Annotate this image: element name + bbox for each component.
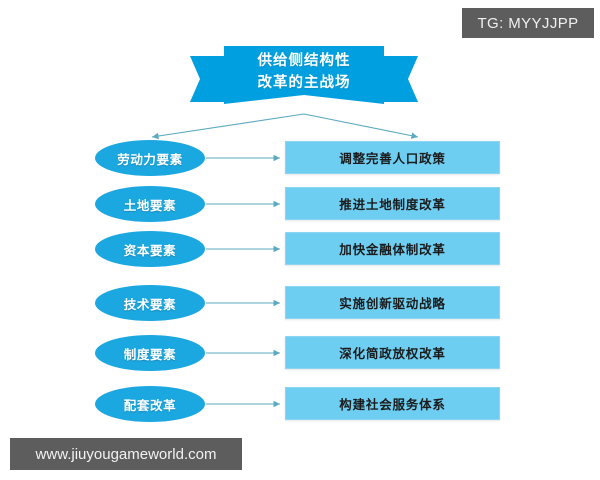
factor-node-4[interactable]: 技术要素: [95, 285, 205, 321]
factor-node-5[interactable]: 制度要素: [95, 335, 205, 371]
measure-label: 调整完善人口政策: [339, 148, 445, 167]
watermark-label: www.jiuyougameworld.com: [36, 446, 217, 463]
factor-label: 劳动力要素: [117, 149, 183, 168]
tg-badge-label: TG: MYYJJPP: [477, 15, 578, 32]
factor-node-1[interactable]: 劳动力要素: [95, 140, 205, 176]
factor-label: 制度要素: [124, 344, 176, 363]
factor-label: 技术要素: [124, 294, 176, 313]
banner-branch-arrows: [152, 114, 418, 137]
measure-label: 构建社会服务体系: [339, 394, 445, 413]
factor-node-2[interactable]: 土地要素: [95, 186, 205, 222]
measure-node-1[interactable]: 调整完善人口政策: [285, 141, 500, 174]
banner-title: 供给侧结构性 改革的主战场: [190, 50, 418, 94]
banner-title-line1: 供给侧结构性: [190, 50, 418, 72]
factor-label: 资本要素: [124, 240, 176, 259]
measure-label: 实施创新驱动战略: [339, 293, 445, 312]
measure-label: 加快金融体制改革: [339, 239, 445, 258]
diagram-canvas: 供给侧结构性 改革的主战场 劳动力要素 土地要素 资本要素 技术要素 制度要素 …: [0, 0, 600, 480]
measure-node-3[interactable]: 加快金融体制改革: [285, 232, 500, 265]
measure-label: 推进土地制度改革: [339, 194, 445, 213]
measure-node-2[interactable]: 推进土地制度改革: [285, 187, 500, 220]
tg-badge: TG: MYYJJPP: [462, 8, 594, 38]
watermark-banner: www.jiuyougameworld.com: [10, 438, 242, 470]
row-arrows: [206, 158, 280, 404]
banner-title-line2: 改革的主战场: [190, 72, 418, 94]
factor-label: 配套改革: [124, 395, 176, 414]
factor-node-3[interactable]: 资本要素: [95, 231, 205, 267]
measure-label: 深化简政放权改革: [339, 343, 445, 362]
title-banner: 供给侧结构性 改革的主战场: [190, 42, 418, 114]
measure-node-5[interactable]: 深化简政放权改革: [285, 336, 500, 369]
measure-node-4[interactable]: 实施创新驱动战略: [285, 286, 500, 319]
factor-label: 土地要素: [124, 195, 176, 214]
measure-node-6[interactable]: 构建社会服务体系: [285, 387, 500, 420]
factor-node-6[interactable]: 配套改革: [95, 386, 205, 422]
